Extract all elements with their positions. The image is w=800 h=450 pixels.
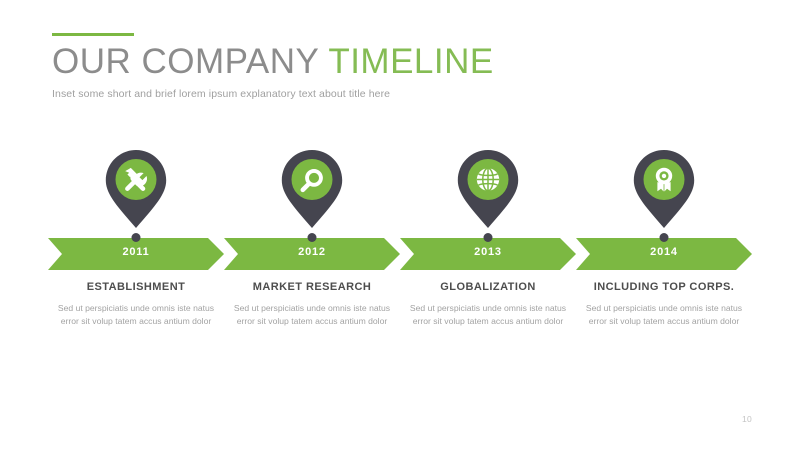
pin-anchor-dot: [308, 233, 317, 242]
globe-icon: [477, 168, 499, 190]
map-pin-marker[interactable]: [633, 150, 695, 230]
pin-anchor-dot: [484, 233, 493, 242]
milestone-title: GLOBALIZATION: [400, 281, 576, 293]
page-number: 10: [742, 414, 752, 424]
map-pin-marker[interactable]: [457, 150, 519, 230]
milestone-caption: MARKET RESEARCH Sed ut perspiciatis unde…: [224, 281, 400, 328]
milestone-caption: ESTABLISHMENT Sed ut perspiciatis unde o…: [48, 281, 224, 328]
page-title: OUR COMPANY TIMELINE: [52, 43, 752, 81]
slide-header: OUR COMPANY TIMELINE Inset some short an…: [52, 33, 752, 101]
milestone-title: MARKET RESEARCH: [224, 281, 400, 293]
page-subtitle: Inset some short and brief lorem ipsum e…: [52, 87, 752, 101]
timeline-milestone[interactable]: 2012 MARKET RESEARCH Sed ut perspiciatis…: [224, 150, 400, 360]
milestone-year: 2011: [48, 246, 224, 258]
pin-anchor-dot: [660, 233, 669, 242]
map-pin-marker[interactable]: [105, 150, 167, 230]
accent-rule: [52, 33, 134, 36]
pin-anchor-dot: [132, 233, 141, 242]
milestone-body: Sed ut perspiciatis unde omnis iste natu…: [230, 302, 394, 328]
milestone-year: 2012: [224, 246, 400, 258]
milestone-title: ESTABLISHMENT: [48, 281, 224, 293]
page-title-accent: TIMELINE: [328, 42, 493, 81]
milestone-body: Sed ut perspiciatis unde omnis iste natu…: [406, 302, 570, 328]
milestone-body: Sed ut perspiciatis unde omnis iste natu…: [582, 302, 746, 328]
map-pin-marker[interactable]: [281, 150, 343, 230]
milestone-caption: INCLUDING TOP CORPS. Sed ut perspiciatis…: [576, 281, 752, 328]
milestone-caption: GLOBALIZATION Sed ut perspiciatis unde o…: [400, 281, 576, 328]
timeline-milestone[interactable]: 2011 ESTABLISHMENT Sed ut perspiciatis u…: [48, 150, 224, 360]
page-title-primary: OUR COMPANY: [52, 42, 328, 81]
milestone-title: INCLUDING TOP CORPS.: [576, 281, 752, 293]
timeline-milestone[interactable]: 2013 GLOBALIZATION Sed ut perspiciatis u…: [400, 150, 576, 360]
milestone-year: 2014: [576, 246, 752, 258]
timeline: 2011 ESTABLISHMENT Sed ut perspiciatis u…: [0, 150, 800, 360]
pin-disc: [292, 159, 333, 200]
milestone-body: Sed ut perspiciatis unde omnis iste natu…: [54, 302, 218, 328]
timeline-milestone[interactable]: 2014 INCLUDING TOP CORPS. Sed ut perspic…: [576, 150, 752, 360]
milestone-year: 2013: [400, 246, 576, 258]
